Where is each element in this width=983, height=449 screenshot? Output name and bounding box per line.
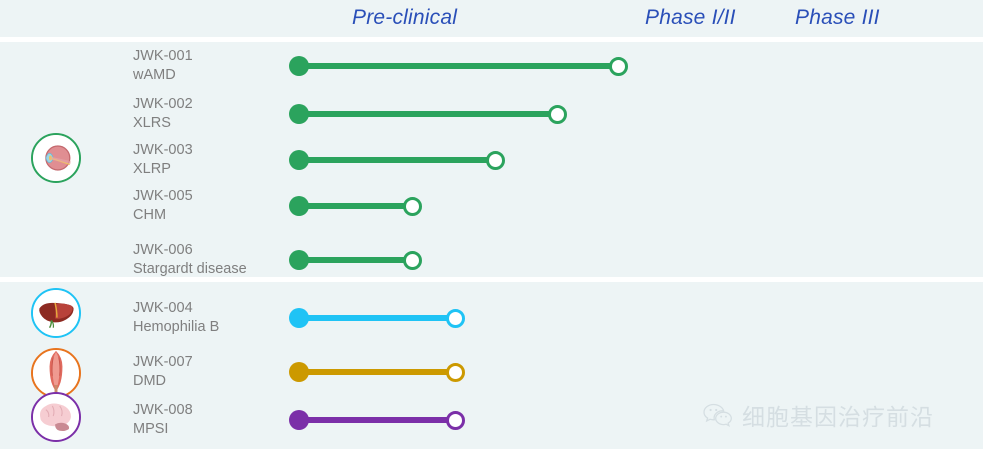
- program-label-jwk-003: JWK-003 XLRP: [133, 141, 193, 179]
- phase-label-phase-3: Phase III: [795, 6, 880, 30]
- program-indication: wAMD: [133, 66, 193, 85]
- wechat-icon: [703, 403, 733, 427]
- program-indication: XLRS: [133, 114, 193, 133]
- program-indication: Stargardt disease: [133, 260, 247, 279]
- bar-track-jwk-003[interactable]: [299, 157, 495, 163]
- bar-track-jwk-008[interactable]: [299, 417, 455, 423]
- bar-track-jwk-002[interactable]: [299, 111, 557, 117]
- watermark-text: 细胞基因治疗前沿: [742, 398, 934, 432]
- liver-icon: [31, 288, 81, 338]
- program-code: JWK-003: [133, 141, 193, 160]
- bar-track-jwk-004[interactable]: [299, 315, 455, 321]
- divider-header: [0, 37, 983, 42]
- bar-track-jwk-005[interactable]: [299, 203, 412, 209]
- program-indication: DMD: [133, 372, 193, 391]
- brain-icon: [31, 392, 81, 442]
- bar-start-dot-jwk-001[interactable]: [289, 56, 309, 76]
- phase-label-phase-1-2: Phase I/II: [645, 6, 736, 30]
- bar-end-circle-jwk-007[interactable]: [446, 363, 465, 382]
- program-indication: XLRP: [133, 160, 193, 179]
- bar-start-dot-jwk-004[interactable]: [289, 308, 309, 328]
- bar-end-circle-jwk-001[interactable]: [609, 57, 628, 76]
- bar-start-dot-jwk-006[interactable]: [289, 250, 309, 270]
- program-label-jwk-004: JWK-004 Hemophilia B: [133, 299, 219, 337]
- program-label-jwk-001: JWK-001 wAMD: [133, 47, 193, 85]
- program-label-jwk-005: JWK-005 CHM: [133, 187, 193, 225]
- bar-start-dot-jwk-008[interactable]: [289, 410, 309, 430]
- program-label-jwk-008: JWK-008 MPSI: [133, 401, 193, 439]
- bar-start-dot-jwk-002[interactable]: [289, 104, 309, 124]
- phase-header: Pre-clinical Phase I/II Phase III: [0, 0, 983, 38]
- program-label-jwk-007: JWK-007 DMD: [133, 353, 193, 391]
- muscle-icon: [31, 348, 81, 398]
- bar-end-circle-jwk-005[interactable]: [403, 197, 422, 216]
- bar-end-circle-jwk-004[interactable]: [446, 309, 465, 328]
- program-code: JWK-008: [133, 401, 193, 420]
- program-code: JWK-004: [133, 299, 219, 318]
- program-indication: Hemophilia B: [133, 318, 219, 337]
- bar-start-dot-jwk-007[interactable]: [289, 362, 309, 382]
- bar-end-circle-jwk-008[interactable]: [446, 411, 465, 430]
- phase-label-pre-clinical: Pre-clinical: [352, 6, 457, 30]
- program-code: JWK-007: [133, 353, 193, 372]
- program-label-jwk-002: JWK-002 XLRS: [133, 95, 193, 133]
- bar-start-dot-jwk-003[interactable]: [289, 150, 309, 170]
- eye-icon: [31, 133, 81, 183]
- program-label-jwk-006: JWK-006 Stargardt disease: [133, 241, 247, 279]
- program-code: JWK-001: [133, 47, 193, 66]
- bar-track-jwk-006[interactable]: [299, 257, 412, 263]
- bar-track-jwk-001[interactable]: [299, 63, 618, 69]
- program-code: JWK-002: [133, 95, 193, 114]
- program-code: JWK-005: [133, 187, 193, 206]
- bar-end-circle-jwk-006[interactable]: [403, 251, 422, 270]
- bar-track-jwk-007[interactable]: [299, 369, 455, 375]
- pipeline-chart: Pre-clinical Phase I/II Phase III: [0, 0, 983, 449]
- program-indication: MPSI: [133, 420, 193, 439]
- bar-end-circle-jwk-003[interactable]: [486, 151, 505, 170]
- bar-start-dot-jwk-005[interactable]: [289, 196, 309, 216]
- program-code: JWK-006: [133, 241, 247, 260]
- bar-end-circle-jwk-002[interactable]: [548, 105, 567, 124]
- watermark: 细胞基因治疗前沿: [703, 398, 934, 432]
- program-indication: CHM: [133, 206, 193, 225]
